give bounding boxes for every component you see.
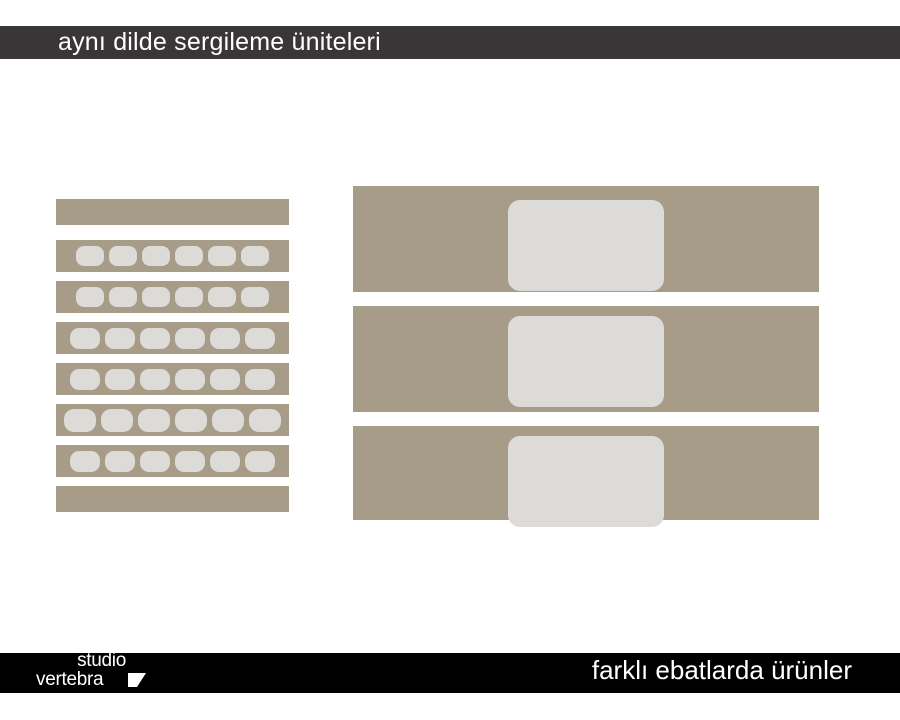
shelf-row-plain-bottom xyxy=(56,486,289,512)
shelf-pill xyxy=(210,328,240,349)
slide-canvas: aynı dilde sergileme üniteleri studio ve… xyxy=(0,0,900,720)
shelf-row-2 xyxy=(56,281,289,313)
logo-line-studio: studio xyxy=(77,650,126,671)
shelf-pill xyxy=(105,451,135,472)
shelf-pill xyxy=(210,369,240,390)
shelf-pill xyxy=(210,451,240,472)
triangle-down-icon xyxy=(128,673,146,687)
shelf-row-1 xyxy=(56,240,289,272)
shelf-pill xyxy=(64,409,96,432)
shelf-pill xyxy=(140,451,170,472)
shelf-pill xyxy=(76,246,104,266)
logo-line-vertebra: vertebra xyxy=(36,669,103,690)
shelf-pill xyxy=(175,409,207,432)
left-diagram-shelf-stack xyxy=(56,199,289,511)
panel-3 xyxy=(353,426,819,520)
shelf-row-plain-top xyxy=(56,199,289,225)
shelf-pill-group xyxy=(56,240,289,272)
shelf-pill xyxy=(175,369,205,390)
shelf-pill xyxy=(241,246,269,266)
shelf-pill xyxy=(70,451,100,472)
shelf-pill xyxy=(208,246,236,266)
shelf-pill xyxy=(142,246,170,266)
studio-vertebra-logo: studio vertebra xyxy=(36,650,148,694)
shelf-pill-group xyxy=(56,281,289,313)
shelf-pill xyxy=(140,369,170,390)
shelf-pill xyxy=(245,328,275,349)
shelf-pill xyxy=(175,328,205,349)
shelf-pill-group xyxy=(56,322,289,354)
shelf-pill xyxy=(142,287,170,307)
shelf-pill xyxy=(109,246,137,266)
shelf-pill xyxy=(70,328,100,349)
shelf-pill xyxy=(175,246,203,266)
shelf-pill xyxy=(212,409,244,432)
shelf-pill xyxy=(138,409,170,432)
shelf-pill xyxy=(249,409,281,432)
shelf-pill xyxy=(109,287,137,307)
shelf-pill xyxy=(208,287,236,307)
shelf-pill xyxy=(175,451,205,472)
shelf-row-6 xyxy=(56,445,289,477)
shelf-pill xyxy=(140,328,170,349)
shelf-row-3 xyxy=(56,322,289,354)
panel-2 xyxy=(353,306,819,412)
panel-2-product-area xyxy=(508,316,664,407)
shelf-row-5 xyxy=(56,404,289,436)
panel-3-product-area xyxy=(508,436,664,527)
shelf-pill xyxy=(70,369,100,390)
shelf-row-4 xyxy=(56,363,289,395)
panel-1 xyxy=(353,186,819,292)
shelf-pill-group xyxy=(56,445,289,477)
shelf-pill-group xyxy=(56,363,289,395)
shelf-pill xyxy=(76,287,104,307)
page-title: aynı dilde sergileme üniteleri xyxy=(58,24,381,61)
shelf-pill xyxy=(175,287,203,307)
shelf-pill xyxy=(105,369,135,390)
right-diagram-panel-stack xyxy=(353,186,819,520)
shelf-pill-group xyxy=(56,404,289,436)
shelf-pill xyxy=(105,328,135,349)
shelf-pill xyxy=(101,409,133,432)
shelf-pill xyxy=(241,287,269,307)
shelf-pill xyxy=(245,451,275,472)
shelf-pill xyxy=(245,369,275,390)
footer-caption: farklı ebatlarda ürünler xyxy=(592,648,852,692)
panel-1-product-area xyxy=(508,200,664,291)
